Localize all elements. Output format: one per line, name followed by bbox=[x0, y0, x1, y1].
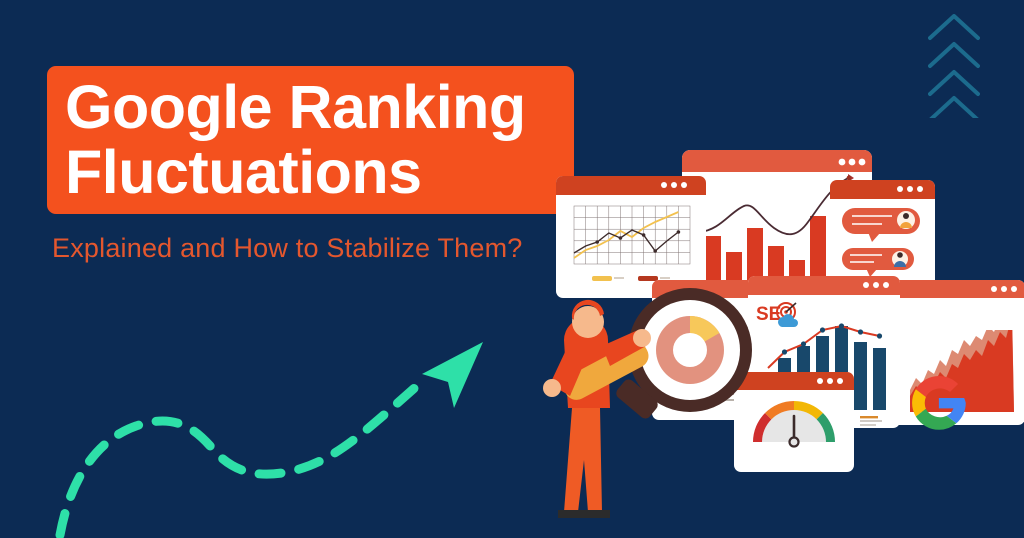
title-box: Google Ranking Fluctuations bbox=[47, 66, 574, 214]
chevron-up-icon-group bbox=[922, 8, 986, 118]
seo-analytics-illustration: SE bbox=[530, 140, 1024, 538]
title-line-2: Fluctuations bbox=[65, 142, 574, 203]
upward-trend-arrow-icon bbox=[36, 330, 506, 538]
banner-root: Google Ranking Fluctuations Explained an… bbox=[0, 0, 1024, 538]
line-chart-window bbox=[556, 176, 706, 298]
title-line-1: Google Ranking bbox=[65, 77, 574, 138]
gauge-window bbox=[734, 372, 854, 472]
